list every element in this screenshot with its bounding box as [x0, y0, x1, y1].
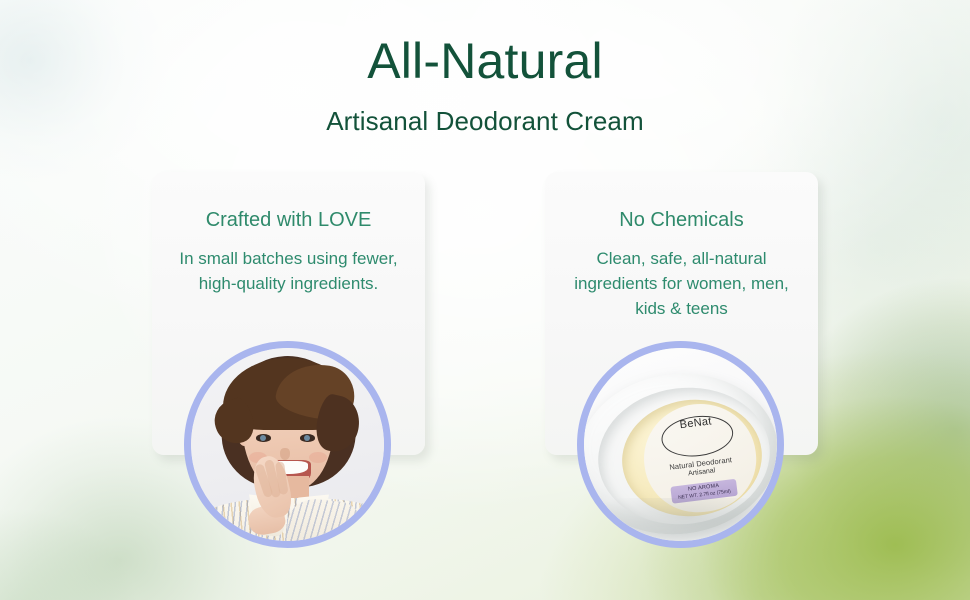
- eye-right-shape: [300, 434, 315, 442]
- page-title: All-Natural: [0, 0, 970, 86]
- nose-shape: [280, 448, 290, 460]
- cheek-right-shape: [309, 452, 327, 463]
- product-jar-photo-circle: BeNat ® Natural Deodorant Artisanal NO A…: [577, 341, 784, 548]
- page-header: All-Natural Artisanal Deodorant Cream: [0, 0, 970, 134]
- product-jar-illustration: BeNat ® Natural Deodorant Artisanal NO A…: [584, 348, 777, 541]
- woman-smiling-photo-circle: [184, 341, 391, 548]
- trademark-icon: ®: [732, 407, 738, 415]
- card-body-text: In small batches using fewer, high-quali…: [152, 230, 425, 296]
- page-subtitle: Artisanal Deodorant Cream: [0, 86, 970, 134]
- card-heading: Crafted with LOVE: [152, 172, 425, 230]
- jar-shadow: [594, 498, 777, 541]
- portrait-illustration: [191, 348, 384, 541]
- card-heading: No Chemicals: [545, 172, 818, 230]
- eye-left-shape: [256, 434, 271, 442]
- card-body-text: Clean, safe, all-natural ingredients for…: [545, 230, 818, 321]
